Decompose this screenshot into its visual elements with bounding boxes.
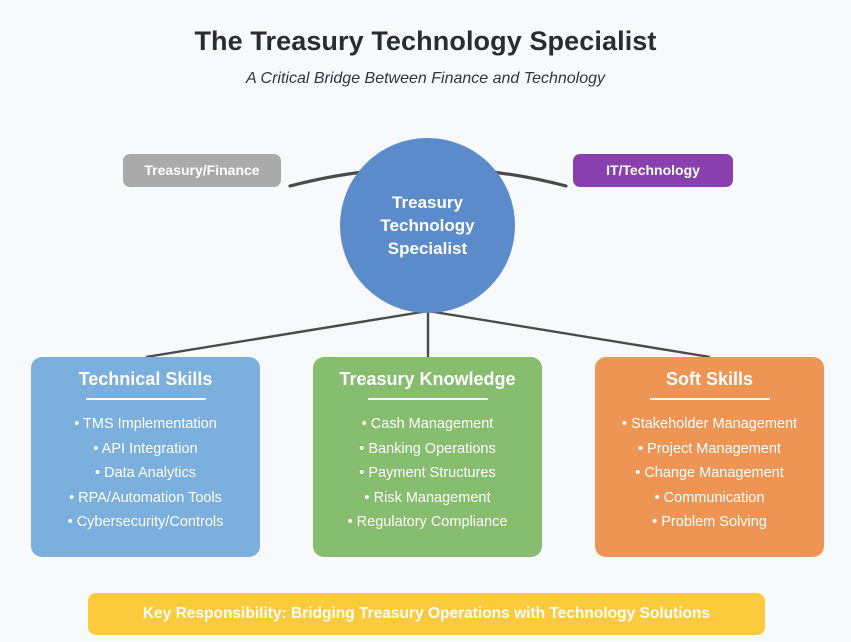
list-item: • RPA/Automation Tools (39, 486, 252, 511)
card-items-technical-skills: • TMS Implementation • API Integration •… (39, 412, 252, 535)
card-items-soft-skills: • Stakeholder Management • Project Manag… (603, 412, 816, 535)
list-item: • Risk Management (321, 486, 534, 511)
badge-it-technology[interactable]: IT/Technology (573, 154, 733, 187)
central-node-treasury-technology-specialist[interactable]: Treasury Technology Specialist (340, 138, 515, 313)
card-divider (650, 398, 770, 400)
card-treasury-knowledge[interactable]: Treasury Knowledge • Cash Management • B… (313, 357, 542, 557)
card-title-treasury-knowledge: Treasury Knowledge (321, 369, 534, 390)
key-responsibility-banner: Key Responsibility: Bridging Treasury Op… (88, 593, 765, 635)
list-item: • Problem Solving (603, 510, 816, 535)
card-title-technical-skills: Technical Skills (39, 369, 252, 390)
connector-to-technical-skills (146, 311, 428, 357)
badge-treasury-finance[interactable]: Treasury/Finance (123, 154, 281, 187)
page-title: The Treasury Technology Specialist (0, 26, 851, 57)
list-item: • Cybersecurity/Controls (39, 510, 252, 535)
list-item: • Stakeholder Management (603, 412, 816, 437)
card-technical-skills[interactable]: Technical Skills • TMS Implementation • … (31, 357, 260, 557)
list-item: • Payment Structures (321, 461, 534, 486)
card-soft-skills[interactable]: Soft Skills • Stakeholder Management • P… (595, 357, 824, 557)
list-item: • Data Analytics (39, 461, 252, 486)
connector-to-soft-skills (428, 311, 710, 357)
card-divider (86, 398, 206, 400)
diagram-canvas: The Treasury Technology Specialist A Cri… (0, 0, 851, 642)
list-item: • API Integration (39, 437, 252, 462)
list-item: • Communication (603, 486, 816, 511)
list-item: • Project Management (603, 437, 816, 462)
card-items-treasury-knowledge: • Cash Management • Banking Operations •… (321, 412, 534, 535)
central-node-label: Treasury Technology Specialist (380, 191, 474, 260)
list-item: • Change Management (603, 461, 816, 486)
list-item: • Regulatory Compliance (321, 510, 534, 535)
card-divider (368, 398, 488, 400)
list-item: • TMS Implementation (39, 412, 252, 437)
list-item: • Banking Operations (321, 437, 534, 462)
page-subtitle: A Critical Bridge Between Finance and Te… (0, 70, 851, 88)
list-item: • Cash Management (321, 412, 534, 437)
card-title-soft-skills: Soft Skills (603, 369, 816, 390)
